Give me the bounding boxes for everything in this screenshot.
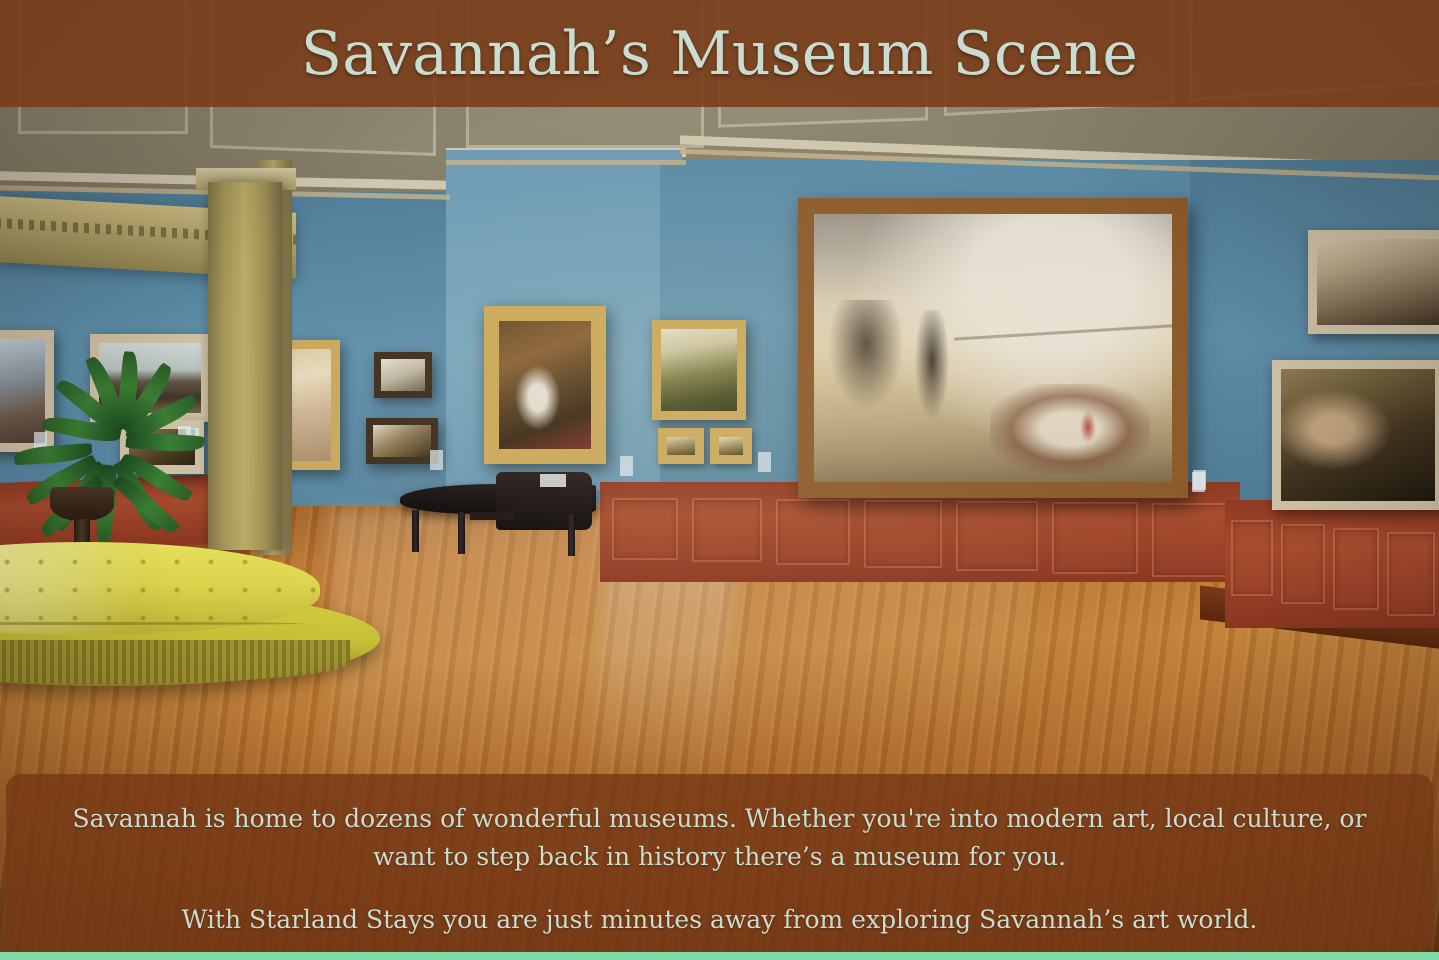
- piano-leg: [458, 512, 465, 554]
- wainscot-panel: [1231, 520, 1273, 596]
- title-banner-overlay: Savannah’s Museum Scene: [0, 0, 1439, 107]
- wainscot-panel: [1333, 528, 1379, 610]
- wainscot-panel: [1052, 502, 1138, 574]
- artwork-seated-portrait: [484, 306, 606, 464]
- wall-trim-center: [446, 160, 686, 165]
- wall-label-plaque: [758, 452, 771, 472]
- artwork-interior-scene-small: [366, 418, 438, 464]
- piano-leg: [568, 514, 575, 556]
- wainscot-panel: [612, 498, 678, 560]
- round-tufted-sofa: [0, 536, 380, 686]
- artwork-interior-figures: [1272, 360, 1439, 510]
- wainscot-panel: [864, 500, 942, 568]
- gallery-column: [208, 182, 282, 550]
- wall-label-plaque: [620, 456, 633, 476]
- wainscot-panel: [956, 501, 1038, 571]
- wainscot-right: [1225, 500, 1439, 628]
- painting-standing-soldier: [914, 310, 950, 422]
- artwork-battle-scene-large: [798, 198, 1188, 498]
- artwork-mini-landscape-b: [710, 428, 752, 464]
- wainscot-panel: [692, 498, 762, 562]
- caption-paragraph-1: Savannah is home to dozens of wonderful …: [66, 800, 1373, 876]
- wainscot-panel: [776, 499, 850, 565]
- urn-bowl: [50, 487, 114, 521]
- artwork-pastoral-landscape: [652, 320, 746, 420]
- sofa-fringe-skirt: [0, 640, 350, 684]
- wainscot-panel: [1152, 503, 1230, 577]
- wainscot-panel: [1387, 532, 1435, 616]
- piano-bench: [470, 512, 514, 520]
- painting-red-accent: [1080, 410, 1096, 444]
- painting-fallen-horse: [990, 384, 1150, 474]
- piano-leg: [412, 510, 419, 552]
- piano-label-plaque: [540, 474, 566, 487]
- museum-hero-banner: Savannah’s Museum Scene Savannah is home…: [0, 0, 1439, 960]
- grand-piano: [400, 466, 596, 552]
- artwork-drawing-framed-dark: [374, 352, 432, 398]
- caption-paragraph-2: With Starland Stays you are just minutes…: [66, 901, 1373, 939]
- wainscot-panel: [1281, 524, 1325, 604]
- caption-overlay-card: Savannah is home to dozens of wonderful …: [6, 774, 1433, 952]
- painting-horse-rider-group: [828, 300, 904, 410]
- artwork-mini-landscape-a: [658, 428, 704, 464]
- wall-label-plaque: [1192, 472, 1205, 492]
- palm-leaf: [125, 431, 204, 453]
- artwork-ruins-landscape: [1308, 230, 1439, 334]
- page-title: Savannah’s Museum Scene: [301, 24, 1138, 84]
- bottom-accent-bar: [0, 952, 1439, 960]
